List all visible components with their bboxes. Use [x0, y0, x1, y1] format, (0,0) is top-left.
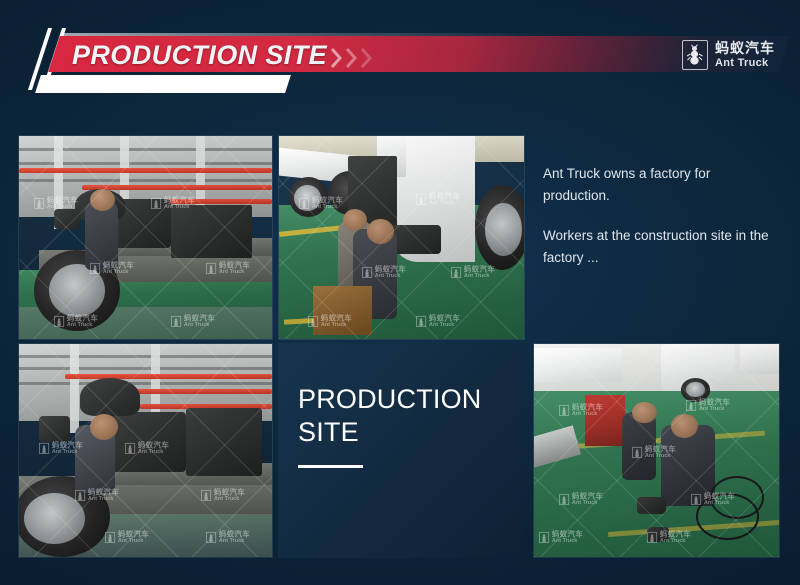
caption-underline — [298, 465, 363, 468]
photo-worker-assembling-chassis: 蚂蚁汽车Ant Truck 蚂蚁汽车Ant Truck 蚂蚁汽车Ant Truc… — [18, 135, 273, 340]
ant-truck-logo-icon — [682, 40, 708, 70]
header-banner-underbar — [35, 75, 291, 93]
chevron-right-icon — [330, 47, 343, 69]
brand-name-en: Ant Truck — [715, 58, 775, 70]
page-header: PRODUCTION SITE — [0, 0, 800, 118]
page-title: PRODUCTION SITE — [72, 40, 327, 71]
header-banner-highlight — [60, 33, 761, 36]
photo-worker-engine-install: 蚂蚁汽车Ant Truck 蚂蚁汽车Ant Truck 蚂蚁汽车Ant Truc… — [18, 343, 273, 558]
description-block: Ant Truck owns a factory for production.… — [533, 135, 780, 340]
chevron-group — [330, 47, 373, 69]
brand-name-cn: 蚂蚁汽车 — [715, 41, 775, 56]
chevron-right-icon — [345, 47, 358, 69]
photo-workers-under-white-truck: 蚂蚁汽车Ant Truck 蚂蚁汽车Ant Truck 蚂蚁汽车Ant Truc… — [278, 135, 525, 340]
chevron-right-icon — [360, 47, 373, 69]
caption-panel: PRODUCTION SITE — [278, 343, 525, 558]
content-grid: 蚂蚁汽车Ant Truck 蚂蚁汽车Ant Truck 蚂蚁汽车Ant Truc… — [18, 135, 783, 563]
caption-title: PRODUCTION SITE — [298, 383, 525, 449]
description-paragraph-1: Ant Truck owns a factory for production. — [543, 163, 774, 207]
description-paragraph-2: Workers at the construction site in the … — [543, 225, 774, 269]
brand-logo: 蚂蚁汽车 Ant Truck — [682, 40, 775, 70]
brand-logo-text: 蚂蚁汽车 Ant Truck — [715, 41, 775, 69]
caption-line-2: SITE — [298, 417, 359, 447]
production-site-page: PRODUCTION SITE — [0, 0, 800, 585]
photo-workers-driveshaft-assembly: 蚂蚁汽车Ant Truck 蚂蚁汽车Ant Truck 蚂蚁汽车Ant Truc… — [533, 343, 780, 558]
caption-line-1: PRODUCTION — [298, 384, 482, 414]
